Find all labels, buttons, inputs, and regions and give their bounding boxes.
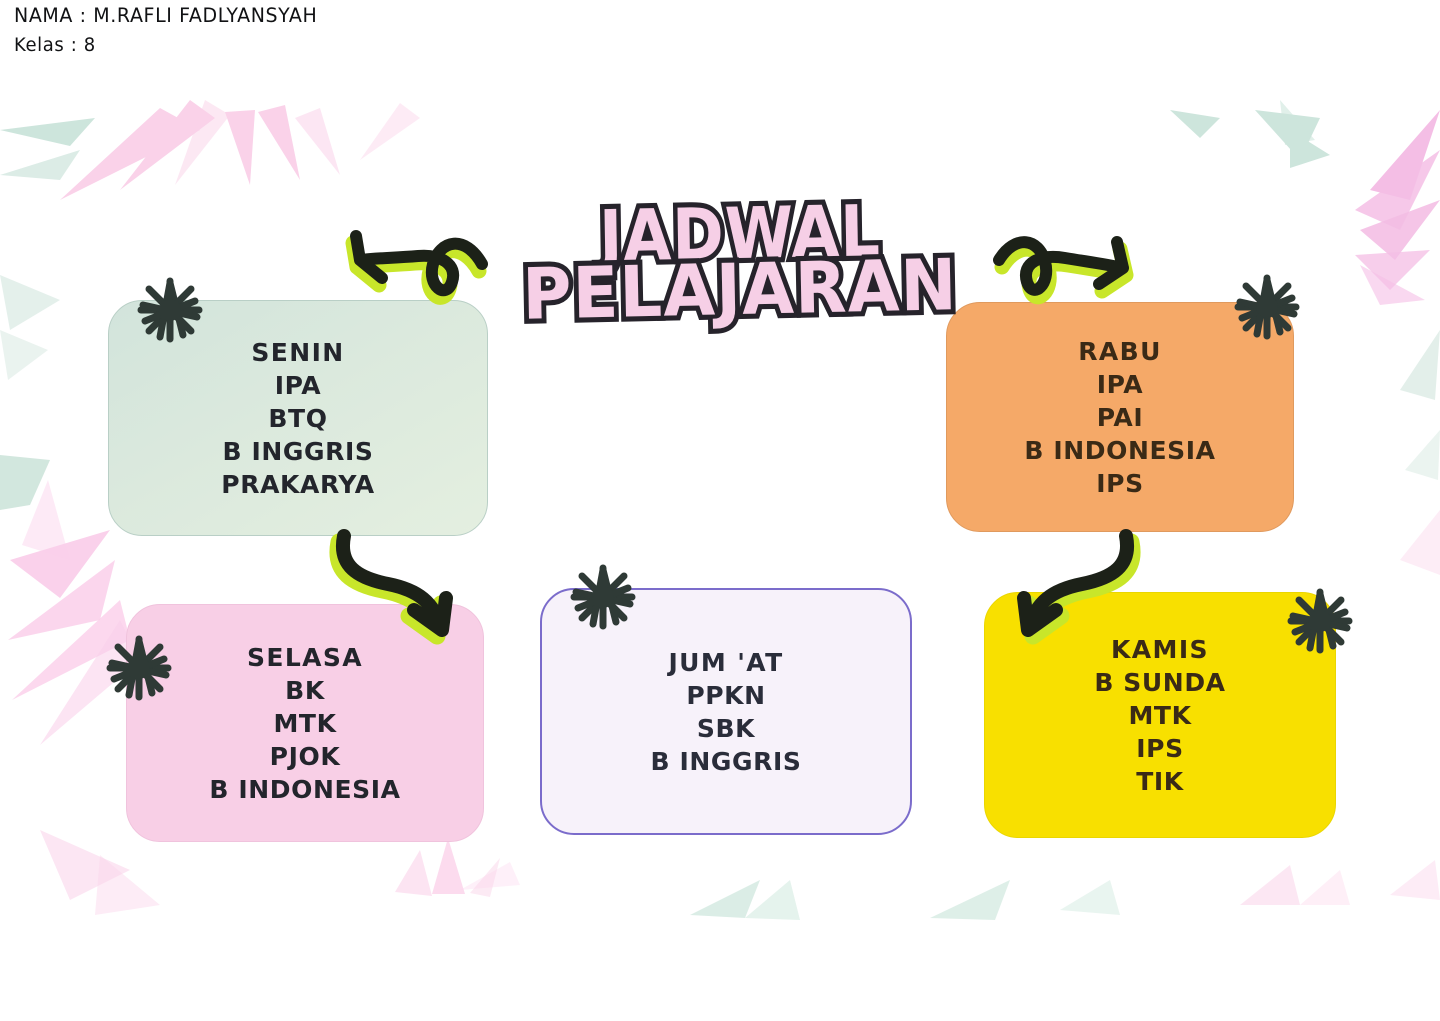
card-selasa-day: SELASA xyxy=(209,641,400,674)
card-senin-subject-2: BTQ xyxy=(221,402,374,435)
card-rabu-day: RABU xyxy=(1024,335,1215,368)
card-selasa-subject-2: MTK xyxy=(209,707,400,740)
card-senin-subject-4: PRAKARYA xyxy=(221,468,374,501)
schedule-board: JADWAL PELAJARAN SENIN IPA BTQ xyxy=(0,0,1440,1016)
card-selasa-subject-1: BK xyxy=(209,674,400,707)
card-kamis-subject-2: MTK xyxy=(1094,699,1225,732)
card-senin-subject-1: IPA xyxy=(221,369,374,402)
card-rabu-subject-4: IPS xyxy=(1024,467,1215,500)
student-name-line: NAMA : M.RAFLI FADLYANSYAH xyxy=(14,0,614,31)
student-class-line: Kelas : 8 xyxy=(14,30,614,62)
day-card-selasa[interactable]: SELASA BK MTK PJOK B INDONESIA xyxy=(126,604,484,842)
card-jumat-subject-3: B INGGRIS xyxy=(651,745,802,778)
title-line-pelajaran: PELAJARAN xyxy=(513,252,968,328)
card-rabu-subject-3: B INDONESIA xyxy=(1024,434,1215,467)
card-selasa-content: SELASA BK MTK PJOK B INDONESIA xyxy=(209,641,400,806)
day-card-senin[interactable]: SENIN IPA BTQ B INGGRIS PRAKARYA xyxy=(108,300,488,536)
card-kamis-content: KAMIS B SUNDA MTK IPS TIK xyxy=(1094,633,1225,798)
card-rabu-content: RABU IPA PAI B INDONESIA IPS xyxy=(1024,335,1215,500)
day-card-jumat[interactable]: JUM 'AT PPKN SBK B INGGRIS xyxy=(540,588,912,835)
card-kamis-subject-3: IPS xyxy=(1094,732,1225,765)
card-rabu-subject-2: PAI xyxy=(1024,401,1215,434)
card-jumat-subject-1: PPKN xyxy=(651,679,802,712)
card-senin-content: SENIN IPA BTQ B INGGRIS PRAKARYA xyxy=(221,336,374,501)
card-rabu-subject-1: IPA xyxy=(1024,368,1215,401)
card-jumat-subject-2: SBK xyxy=(651,712,802,745)
handwritten-header: NAMA : M.RAFLI FADLYANSYAH Kelas : 8 xyxy=(14,0,614,60)
day-card-rabu[interactable]: RABU IPA PAI B INDONESIA IPS xyxy=(946,302,1294,532)
card-senin-subject-3: B INGGRIS xyxy=(221,435,374,468)
card-kamis-day: KAMIS xyxy=(1094,633,1225,666)
day-card-kamis[interactable]: KAMIS B SUNDA MTK IPS TIK xyxy=(984,592,1336,838)
card-jumat-day: JUM 'AT xyxy=(651,646,802,679)
card-kamis-subject-1: B SUNDA xyxy=(1094,666,1225,699)
card-selasa-subject-3: PJOK xyxy=(209,740,400,773)
card-selasa-subject-4: B INDONESIA xyxy=(209,773,400,806)
card-kamis-subject-4: TIK xyxy=(1094,765,1225,798)
card-senin-day: SENIN xyxy=(221,336,374,369)
page-title: JADWAL PELAJARAN xyxy=(530,205,950,319)
card-jumat-content: JUM 'AT PPKN SBK B INGGRIS xyxy=(651,646,802,778)
